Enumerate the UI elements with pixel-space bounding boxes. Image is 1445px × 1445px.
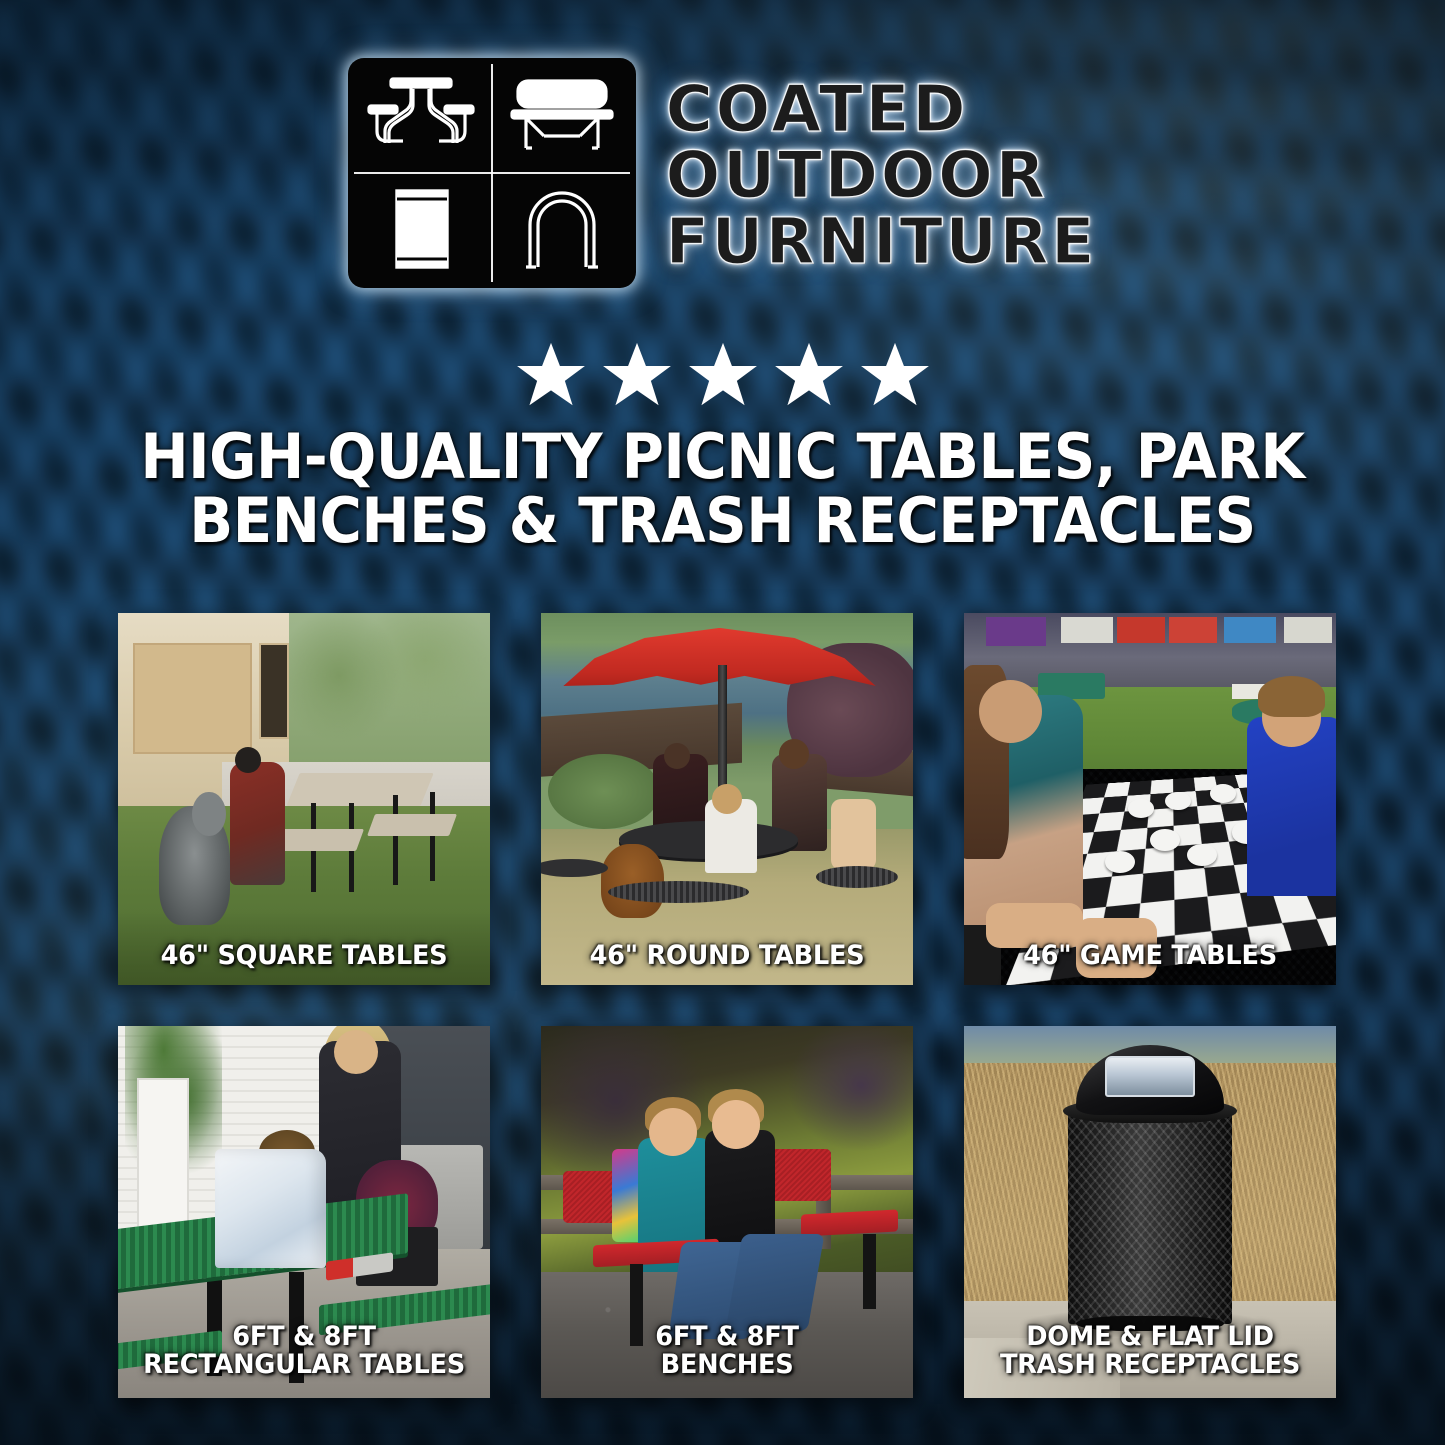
- caption-line-2: TRASH RECEPTACLES: [979, 1351, 1321, 1380]
- product-card-round-tables[interactable]: 46" ROUND TABLES: [541, 613, 913, 985]
- picnic-table-icon: [353, 63, 491, 172]
- bike-rack-icon: [493, 175, 631, 284]
- logo-line-2: OUTDOOR: [666, 144, 1098, 208]
- logo-line-3: FURNITURE: [666, 210, 1098, 273]
- star-icon: [599, 338, 675, 412]
- headline-line-2: BENCHES & TRASH RECEPTACLES: [51, 489, 1395, 553]
- trash-receptacle-icon: [353, 175, 491, 284]
- product-card-rectangular-tables[interactable]: 6FT & 8FT RECTANGULAR TABLES: [118, 1026, 490, 1398]
- product-card-trash-receptacles[interactable]: DOME & FLAT LID TRASH RECEPTACLES: [964, 1026, 1336, 1398]
- product-caption: 46" GAME TABLES: [973, 942, 1326, 985]
- product-card-game-tables[interactable]: 46" GAME TABLES: [964, 613, 1336, 985]
- product-caption: 6FT & 8FT BENCHES: [550, 1323, 903, 1394]
- page-title: HIGH-QUALITY PICNIC TABLES, PARK BENCHES…: [51, 425, 1395, 554]
- product-card-square-tables[interactable]: 46" SQUARE TABLES: [118, 613, 490, 985]
- product-photo-game-tables: [964, 613, 1336, 985]
- product-card-benches[interactable]: 6FT & 8FT BENCHES: [541, 1026, 913, 1398]
- caption-line-1: 6FT & 8FT: [556, 1323, 898, 1352]
- product-grid: 46" SQUARE TABLES: [118, 613, 1336, 1398]
- bench-icon: [493, 63, 631, 172]
- product-caption: 6FT & 8FT RECTANGULAR TABLES: [127, 1323, 480, 1394]
- product-photo-round-tables: [541, 613, 913, 985]
- star-icon: [771, 338, 847, 412]
- logo-wordmark: COATED OUTDOOR FURNITURE: [666, 74, 1098, 273]
- caption-line-1: 6FT & 8FT: [133, 1323, 475, 1352]
- caption-line-1: DOME & FLAT LID: [979, 1323, 1321, 1352]
- caption-line-2: RECTANGULAR TABLES: [133, 1351, 475, 1380]
- product-photo-square-tables: [118, 613, 490, 985]
- star-icon: [513, 338, 589, 412]
- star-icon: [685, 338, 761, 412]
- caption-line-1: 46" GAME TABLES: [979, 942, 1321, 971]
- star-rating: [0, 338, 1445, 412]
- caption-line-1: 46" ROUND TABLES: [556, 942, 898, 971]
- headline-line-1: HIGH-QUALITY PICNIC TABLES, PARK: [51, 425, 1395, 489]
- caption-line-2: BENCHES: [556, 1351, 898, 1380]
- product-caption: DOME & FLAT LID TRASH RECEPTACLES: [973, 1323, 1326, 1394]
- logo-line-1: COATED: [666, 78, 1098, 142]
- logo-icon-grid: [348, 58, 636, 288]
- product-caption: 46" ROUND TABLES: [550, 942, 903, 985]
- caption-line-1: 46" SQUARE TABLES: [133, 942, 475, 971]
- brand-logo[interactable]: COATED OUTDOOR FURNITURE: [0, 58, 1445, 288]
- star-icon: [857, 338, 933, 412]
- product-caption: 46" SQUARE TABLES: [127, 942, 480, 985]
